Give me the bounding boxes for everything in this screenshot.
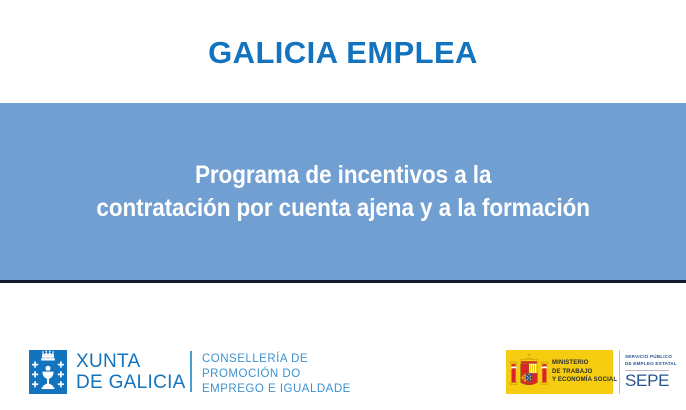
logo-divider (190, 351, 192, 392)
xunta-wordmark-line-1: XUNTA (76, 351, 186, 372)
sepe-logo: SERVICIO PÚBLICO DE EMPLEO ESTATAL SEPE (619, 350, 675, 394)
spain-coat-of-arms-icon (509, 353, 549, 391)
galicia-coat-of-arms-icon (29, 350, 67, 394)
sepe-tagline: SERVICIO PÚBLICO DE EMPLEO ESTATAL (625, 354, 675, 368)
sepe-tagline-line-2: DE EMPLEO ESTATAL (625, 361, 675, 368)
ministerio-line-3: Y ECONOMÍA SOCIAL (552, 376, 617, 385)
xunta-wordmark: XUNTA DE GALICIA (76, 351, 186, 394)
conselleria-line-2: PROMOCIÓN DO (202, 367, 351, 382)
conselleria-label: CONSELLERÍA DE PROMOCIÓN DO EMPREGO E IG… (202, 352, 351, 398)
conselleria-line-1: CONSELLERÍA DE (202, 352, 351, 367)
program-banner: Programa de incentivos a la contratación… (0, 103, 686, 280)
sepe-tagline-line-1: SERVICIO PÚBLICO (625, 354, 675, 361)
ministerio-label: MINISTERIO DE TRABAJO Y ECONOMÍA SOCIAL (552, 359, 617, 385)
banner-line-1: Programa de incentivos a la (96, 159, 590, 192)
header-band: GALICIA EMPLEA (0, 0, 686, 103)
ministerio-de-trabajo-logo: MINISTERIO DE TRABAJO Y ECONOMÍA SOCIAL (506, 350, 613, 394)
page-title: GALICIA EMPLEA (208, 37, 478, 68)
xunta-wordmark-line-2: DE GALICIA (76, 372, 186, 393)
banner-text: Programa de incentivos a la contratación… (96, 159, 590, 225)
banner-line-2: contratación por cuenta ajena y a la for… (96, 192, 590, 225)
ministerio-line-1: MINISTERIO (552, 359, 617, 368)
ministerio-line-2: DE TRABAJO (552, 368, 617, 377)
conselleria-line-3: EMPREGO E IGUALDADE (202, 382, 351, 397)
xunta-de-galicia-logo: XUNTA DE GALICIA (29, 348, 186, 396)
sepe-wordmark: SEPE (625, 372, 675, 389)
